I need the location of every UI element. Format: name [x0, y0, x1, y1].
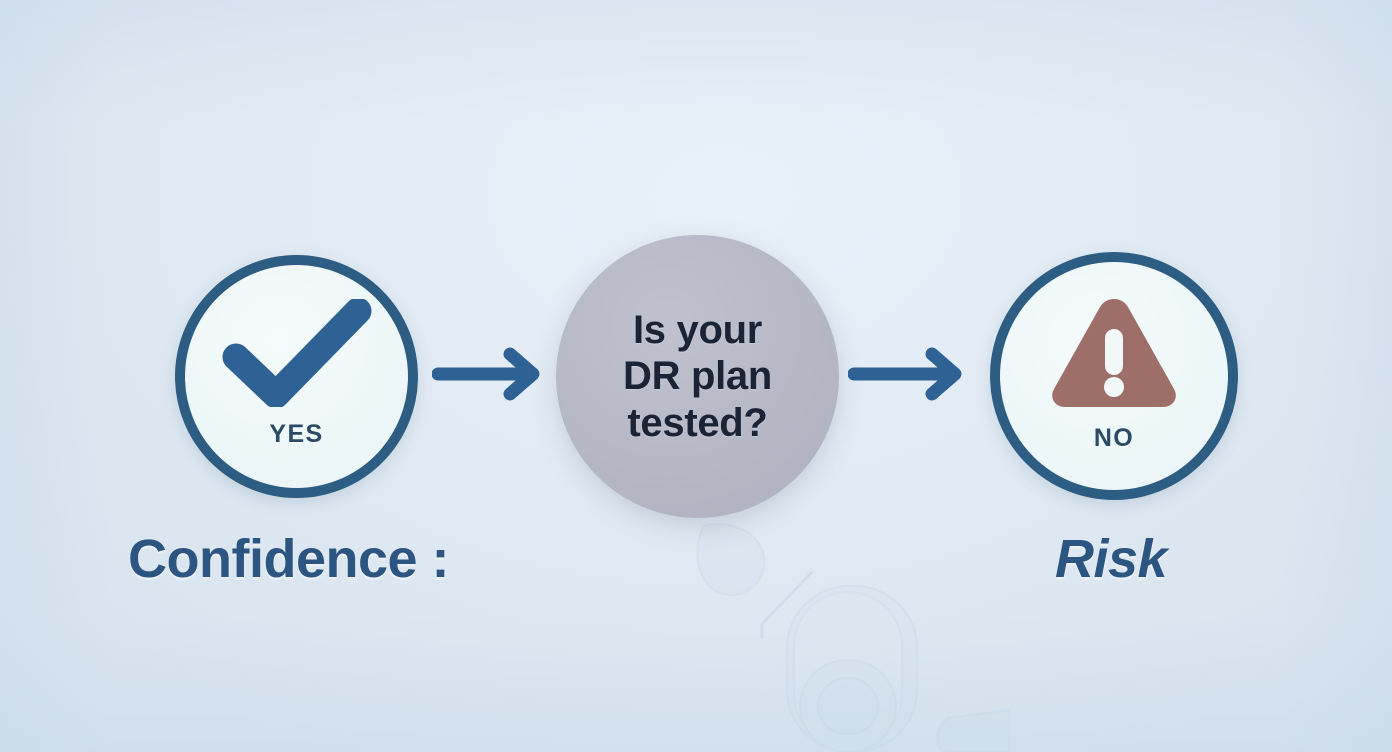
caption-risk: Risk [1055, 528, 1167, 590]
node-no-label: NO [1094, 424, 1134, 453]
caption-confidence: Confidence : [128, 528, 449, 590]
check-mark-icon [222, 299, 372, 412]
question-line-1: Is your [623, 307, 772, 353]
background-watermark-icon [690, 520, 1010, 752]
node-yes[interactable]: YES [175, 255, 418, 498]
diagram-canvas: YES Is your DR plan tested? NO Confidenc… [0, 0, 1392, 752]
arrow-question-to-no-icon [848, 345, 966, 403]
warning-triangle-icon [1048, 293, 1180, 416]
node-question-text: Is your DR plan tested? [623, 307, 772, 446]
node-yes-label: YES [269, 420, 323, 449]
question-line-3: tested? [623, 400, 772, 446]
arrow-yes-to-question-icon [432, 345, 544, 403]
node-question[interactable]: Is your DR plan tested? [556, 235, 839, 518]
question-line-2: DR plan [623, 353, 772, 399]
node-no[interactable]: NO [990, 252, 1238, 500]
